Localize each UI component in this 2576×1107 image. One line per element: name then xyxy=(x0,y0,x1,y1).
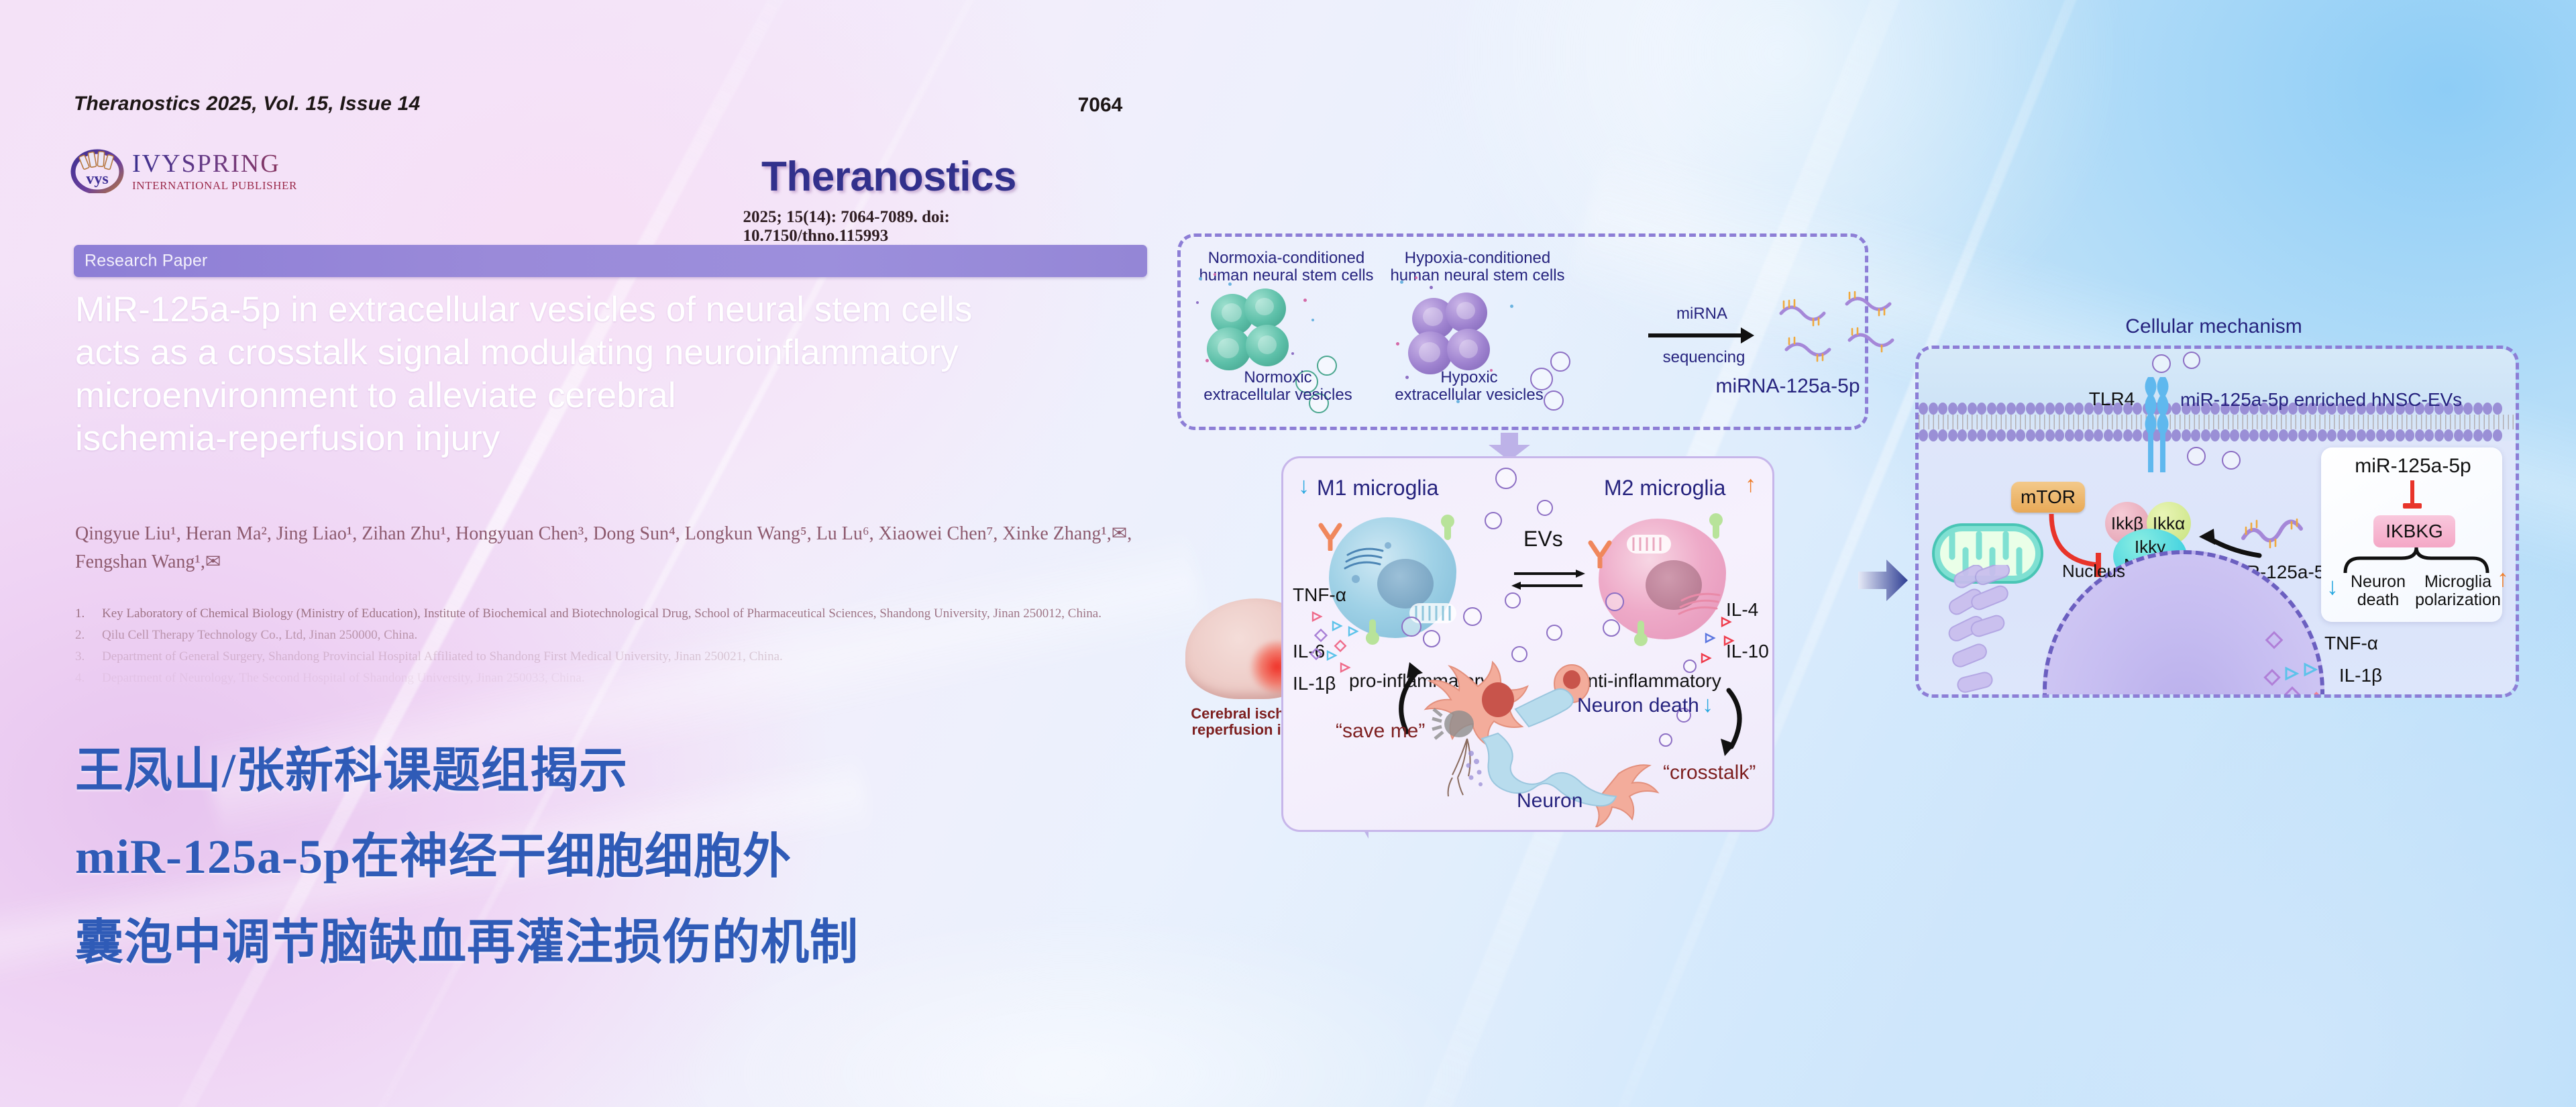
journal-citation: 2025; 15(14): 7064-7089. doi: 10.7150/th… xyxy=(743,208,1035,246)
ev-icon xyxy=(1505,592,1521,609)
m1-cytokine-particles-icon xyxy=(1307,607,1381,681)
m2-receptor-icon xyxy=(1587,540,1613,568)
affiliation-list: 1. Key Laboratory of Chemical Biology (M… xyxy=(75,604,1148,690)
panel-a-output-label: miRNA-125a-5p xyxy=(1694,376,1882,397)
m1-membrane-protein-icon xyxy=(1436,511,1459,541)
affiliation-item: 3. Department of General Surgery, Shando… xyxy=(75,647,1148,667)
affiliation-number: 4. xyxy=(75,668,93,688)
affiliation-number: 3. xyxy=(75,647,93,667)
article-title-line: MiR-125a-5p in extracellular vesicles of… xyxy=(75,288,1162,331)
ivyspring-logo: vys IVYSPRING INTERNATIONAL PUBLISHER xyxy=(70,144,332,198)
page-number: 7064 xyxy=(1078,94,1123,117)
ev-icon xyxy=(1423,630,1440,647)
ivyspring-mark-icon: vys xyxy=(70,149,124,193)
svg-text:vys: vys xyxy=(86,170,108,188)
panel-a-sequencing-label: sequencing xyxy=(1637,349,1771,366)
research-paper-banner: Research Paper xyxy=(74,245,1147,277)
label-line: extracellular vesicles xyxy=(1203,386,1352,404)
article-title-line: acts as a crosstalk signal modulating ne… xyxy=(75,331,1162,374)
m1-microglia-label: M1 microglia xyxy=(1317,476,1438,500)
mirna-strands-icon xyxy=(1774,285,1915,366)
chinese-headline-line: 王凤山/张新科课题组揭示 xyxy=(75,728,1175,814)
m2-cytokine-particles-icon xyxy=(1695,614,1742,674)
section-label: Research Paper xyxy=(85,252,207,271)
affiliation-number: 1. xyxy=(75,604,93,624)
ev-icon xyxy=(1495,468,1517,489)
panel-c-title: Cellular mechanism xyxy=(1912,315,2516,338)
panel-c-frame xyxy=(1915,346,2519,698)
ev-icon xyxy=(1401,617,1421,637)
ev-icon xyxy=(1537,500,1553,516)
crosstalk-label: “crosstalk” xyxy=(1663,761,1756,784)
affiliation-text: Qilu Cell Therapy Technology Co., Ltd, J… xyxy=(102,625,417,645)
publisher-name: IVYSPRING xyxy=(132,151,297,176)
panel-b-frame: ↓ M1 microglia M2 microglia ↑ xyxy=(1281,456,1774,832)
neuron-death-down-arrow-icon: ↓ xyxy=(1702,692,1713,718)
ev-icon xyxy=(1463,607,1482,626)
chinese-headline-line: miR-125a-5p在神经干细胞细胞外 xyxy=(75,814,1175,900)
affiliation-item: 4. Department of Neurology, The Second H… xyxy=(75,668,1148,688)
tnf-alpha-label: TNF-α xyxy=(1293,584,1346,606)
panel-b-to-c-arrow-icon xyxy=(1858,557,1908,604)
m2-microglia-label: M2 microglia xyxy=(1604,476,1725,500)
ev-icon xyxy=(1546,625,1562,641)
panel-a-mirna-label: miRNA xyxy=(1642,305,1762,323)
affiliation-item: 1. Key Laboratory of Chemical Biology (M… xyxy=(75,604,1148,624)
theranostics-logo: Theranostics xyxy=(761,153,1016,201)
m1-organelles-icon xyxy=(1342,533,1403,587)
label-line: Normoxia-conditioned xyxy=(1208,249,1364,267)
author-list: Qingyue Liu¹, Heran Ma², Jing Liao¹, Zih… xyxy=(75,520,1162,576)
neuron-label: Neuron xyxy=(1517,790,1582,812)
m2-mitochondrion-icon xyxy=(1625,531,1672,559)
m2-membrane-protein-icon xyxy=(1629,619,1652,650)
article-title-line: microenvironment to alleviate cerebral xyxy=(75,374,1162,417)
evs-label: EVs xyxy=(1523,527,1563,551)
chinese-headline: 王凤山/张新科课题组揭示 miR-125a-5p在神经干细胞细胞外 囊泡中调节脑… xyxy=(75,728,1175,986)
running-head: Theranostics 2025, Vol. 15, Issue 14 xyxy=(74,93,420,115)
article-title: MiR-125a-5p in extracellular vesicles of… xyxy=(75,288,1162,460)
ev-icon xyxy=(1603,619,1620,637)
neuron-death-label: Neuron death xyxy=(1577,694,1699,717)
ev-icon xyxy=(1485,512,1502,529)
save-me-label: “save me” xyxy=(1336,720,1425,743)
affiliation-number: 2. xyxy=(75,625,93,645)
panel-a-label-hypoxic-ev: Hypoxic extracellular vesicles xyxy=(1372,369,1566,404)
affiliation-text: Department of General Surgery, Shandong … xyxy=(102,647,783,667)
ev-icon xyxy=(1605,592,1624,611)
label-line: Normoxic xyxy=(1244,368,1311,386)
affiliation-item: 2. Qilu Cell Therapy Technology Co., Ltd… xyxy=(75,625,1148,645)
chinese-headline-line: 囊泡中调节脑缺血再灌注损伤的机制 xyxy=(75,900,1175,986)
panel-a-label-normoxic-ev: Normoxic extracellular vesicles xyxy=(1177,369,1379,404)
m1-receptor-icon xyxy=(1317,523,1344,551)
m2-membrane-protein-icon xyxy=(1705,509,1727,540)
crosstalk-arrow-icon xyxy=(1713,688,1753,761)
sequencing-arrow-icon xyxy=(1648,333,1743,337)
label-line: Hypoxic xyxy=(1440,368,1497,386)
m2-up-arrow-icon: ↑ xyxy=(1745,472,1756,498)
article-title-line: ischemia-reperfusion injury xyxy=(75,417,1162,460)
affiliation-text: Department of Neurology, The Second Hosp… xyxy=(102,668,585,688)
label-line: Hypoxia-conditioned xyxy=(1405,249,1550,267)
affiliation-text: Key Laboratory of Chemical Biology (Mini… xyxy=(102,604,1102,624)
article-column: Theranostics 2025, Vol. 15, Issue 14 706… xyxy=(0,0,1181,1107)
m1-down-arrow-icon: ↓ xyxy=(1298,473,1309,499)
label-line: extracellular vesicles xyxy=(1395,386,1543,404)
ev-exchange-arrows-icon xyxy=(1511,564,1585,594)
publisher-subtitle: INTERNATIONAL PUBLISHER xyxy=(132,180,297,191)
graphical-abstract: Normoxia-conditioned human neural stem c… xyxy=(1164,0,2576,1107)
